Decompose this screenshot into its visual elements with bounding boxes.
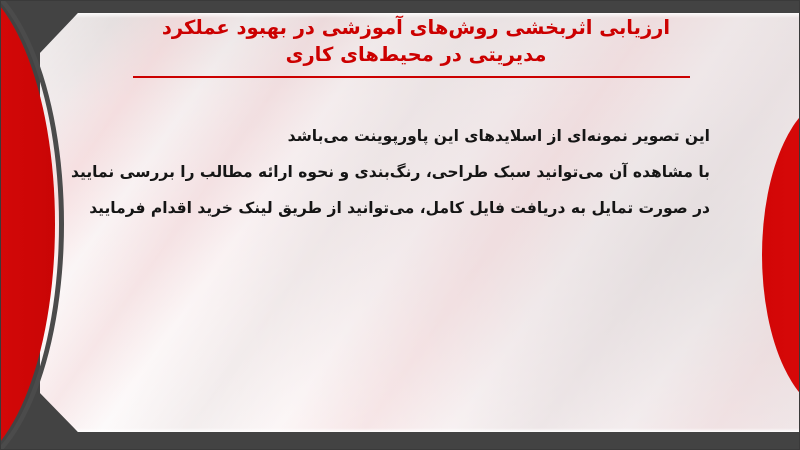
body-line-1: این تصویر نمونه‌ای از اسلایدهای این پاور… <box>120 118 710 154</box>
slide-title-line-2: مدیریتی در محیط‌های کاری <box>120 41 712 68</box>
slide-body-text: این تصویر نمونه‌ای از اسلایدهای این پاور… <box>120 118 710 226</box>
slide-title: ارزیابی اثربخشی روش‌های آموزشی در بهبود … <box>120 14 712 68</box>
presentation-slide: ارزیابی اثربخشی روش‌های آموزشی در بهبود … <box>0 0 800 450</box>
body-line-3: در صورت تمایل به دریافت فایل کامل، می‌تو… <box>120 190 710 226</box>
body-line-2: با مشاهده آن می‌توانید سبک طراحی، رنگ‌بن… <box>120 154 710 190</box>
title-divider-rule <box>133 76 690 78</box>
panel-bottom-highlight <box>0 428 800 432</box>
slide-title-line-1: ارزیابی اثربخشی روش‌های آموزشی در بهبود … <box>120 14 712 41</box>
